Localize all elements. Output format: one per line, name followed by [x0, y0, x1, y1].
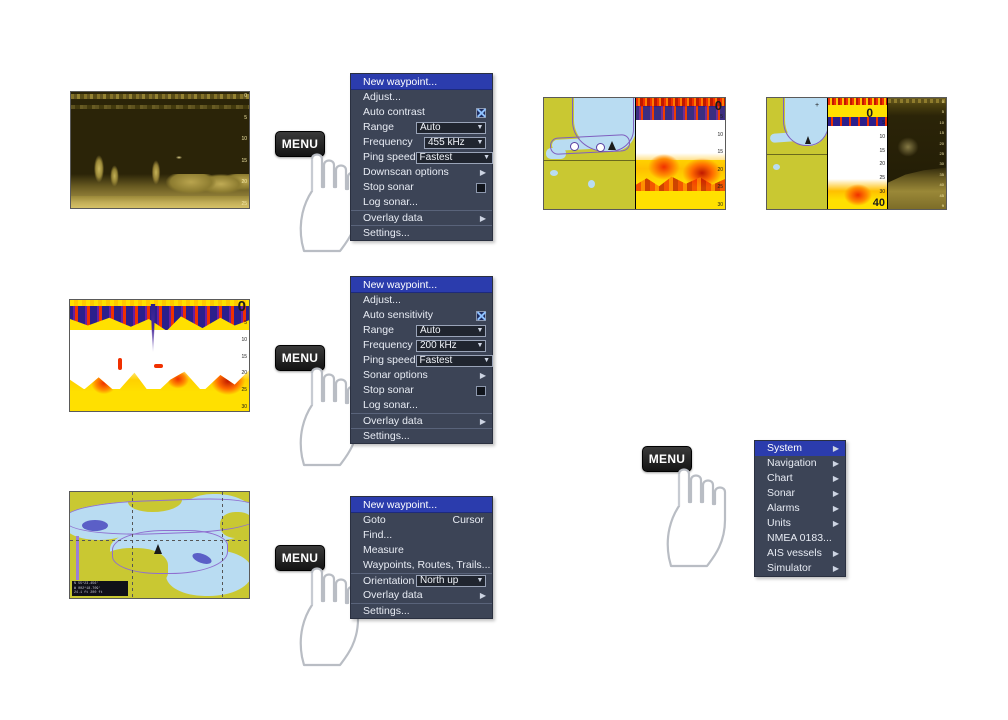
sonar-fish-target [154, 364, 163, 368]
chart-screen[interactable]: N 55*23.456' W 002*18.709' 24.1 ft 200 f… [69, 491, 250, 599]
menu-item-log-sonar[interactable]: Log sonar... [351, 398, 492, 413]
sonar-bottom-second-return [70, 397, 249, 411]
menu-item-label: Frequency [363, 135, 413, 150]
menu-item-label: Stop sonar [363, 383, 414, 398]
depth-tick: 20 [879, 161, 885, 167]
chevron-right-icon: ▶ [478, 368, 486, 383]
chevron-right-icon: ▶ [478, 414, 486, 429]
menu-item-label: Log sonar... [363, 195, 418, 210]
chart-vessel-icon [805, 136, 811, 144]
menu-item-orientation[interactable]: Orientation North up ▼ [351, 573, 492, 588]
chart-depth-contour-2 [550, 134, 631, 155]
depth-tick: 20 [241, 179, 247, 185]
menu-item-downscan-options[interactable]: Downscan options ▶ [351, 165, 492, 180]
downscan-vegetation-2 [108, 158, 121, 188]
menu-item-waypoints-routes-trails[interactable]: Waypoints, Routes, Trails... [351, 558, 492, 573]
menu-item-adjust[interactable]: Adjust... [351, 293, 492, 308]
depth-tick: 10 [940, 120, 944, 125]
downscan-menu[interactable]: New waypoint... Adjust... Auto contrast … [350, 73, 493, 241]
chevron-right-icon: ▶ [831, 516, 839, 531]
menu-item-measure[interactable]: Measure [351, 543, 492, 558]
menu-item-label: Waypoints, Routes, Trails... [363, 558, 490, 573]
chevron-right-icon: ▶ [831, 441, 839, 456]
frequency-dropdown[interactable]: 200 kHz ▼ [416, 340, 486, 352]
menu-item-label: Adjust... [363, 293, 401, 308]
checkbox-unchecked-icon[interactable] [476, 183, 486, 193]
depth-tick: 35 [940, 172, 944, 177]
menu-item-overlay-data[interactable]: Overlay data ▶ [351, 210, 492, 225]
depth-tick: 40 [940, 182, 944, 187]
split3-sonar-panel[interactable]: 0 40 5 10 15 20 25 30 [828, 98, 887, 209]
menu-item-label: Settings... [363, 226, 410, 241]
menu-item-label: Measure [363, 543, 404, 558]
settings-item-nmea-0183[interactable]: NMEA 0183... [755, 531, 845, 546]
menu-item-adjust[interactable]: Adjust... [351, 90, 492, 105]
sonar-depth-scale: 5 10 15 20 25 30 [710, 98, 724, 209]
menu-item-label: Downscan options [363, 165, 449, 180]
chart-coordinate-overlay: N 55*23.456' W 002*18.709' 24.1 ft 200 f… [72, 581, 128, 596]
depth-tick: 20 [940, 141, 944, 146]
ping-speed-dropdown-value: Fastest [420, 355, 482, 367]
depth-tick: 10 [241, 337, 247, 343]
menu-item-ping-speed[interactable]: Ping speed Fastest ▼ [351, 353, 492, 368]
chart-island [773, 164, 780, 170]
chevron-right-icon: ▶ [831, 561, 839, 576]
menu-item-frequency[interactable]: Frequency 455 kHz ▼ [351, 135, 492, 150]
menu-item-label: Navigation [767, 456, 817, 471]
chevron-right-icon: ▶ [478, 211, 486, 226]
menu-item-range[interactable]: Range Auto ▼ [351, 120, 492, 135]
menu-item-label: Settings... [363, 429, 410, 444]
chevron-right-icon: ▶ [831, 471, 839, 486]
menu-item-label: Ping speed [363, 150, 416, 165]
depth-tick: 0 [244, 93, 247, 99]
depth-tick: 30 [879, 189, 885, 195]
chart-vessel-icon [154, 544, 162, 554]
menu-item-label: Frequency [363, 338, 413, 353]
chart-sonar-downscan-split-screen[interactable]: + 0 40 5 10 15 20 25 30 0 5 10 15 20 25 … [766, 97, 947, 210]
menu-item-label: AIS vessels [767, 546, 822, 561]
checkbox-checked-icon[interactable] [476, 108, 486, 118]
chart-grid-line-vertical [222, 492, 223, 598]
range-dropdown-value: Auto [420, 325, 475, 337]
menu-item-settings[interactable]: Settings... [351, 428, 492, 443]
split3-chart-panel[interactable]: + [767, 98, 827, 209]
depth-tick: 20 [717, 167, 723, 173]
chart-depth-contour-basin [112, 530, 228, 574]
menu-item-label: Log sonar... [363, 398, 418, 413]
settings-item-chart[interactable]: Chart ▶ [755, 471, 845, 486]
depth-tick: 45 [940, 193, 944, 198]
downscan-thermocline-band [71, 105, 249, 109]
frequency-dropdown-value: 455 kHz [428, 137, 475, 149]
downscan-bait-cloud [894, 134, 922, 160]
orientation-dropdown-value: North up [420, 575, 475, 587]
menu-item-label: Chart [767, 471, 793, 486]
chevron-down-icon: ▼ [475, 340, 485, 352]
chart-buoy-icon [596, 143, 605, 152]
menu-item-auto-contrast[interactable]: Auto contrast [351, 105, 492, 120]
menu-title-new-waypoint[interactable]: New waypoint... [351, 497, 492, 513]
depth-tick: 10 [717, 132, 723, 138]
frequency-dropdown[interactable]: 455 kHz ▼ [424, 137, 486, 149]
menu-item-label: Find... [363, 528, 392, 543]
menu-item-settings[interactable]: Settings... [351, 225, 492, 240]
depth-tick: 10 [879, 134, 885, 140]
depth-tick: 30 [717, 202, 723, 208]
menu-item-ping-speed[interactable]: Ping speed Fastest ▼ [351, 150, 492, 165]
settings-item-units[interactable]: Units ▶ [755, 516, 845, 531]
frequency-dropdown-value: 200 kHz [420, 340, 475, 352]
depth-tick: 30 [241, 404, 247, 410]
menu-item-label: Stop sonar [363, 180, 414, 195]
depth-tick: 5 [882, 120, 885, 126]
menu-title-label: New waypoint... [363, 497, 437, 513]
downscan-surface-band [71, 94, 249, 99]
split-sonar-panel[interactable]: 0 5 10 15 20 25 30 [636, 98, 725, 209]
settings-item-navigation[interactable]: Navigation ▶ [755, 456, 845, 471]
depth-tick: 5 [244, 115, 247, 121]
menu-item-label: Goto [363, 513, 386, 528]
chart-island [550, 170, 558, 176]
chevron-right-icon: ▶ [478, 165, 486, 180]
settings-item-ais-vessels[interactable]: AIS vessels ▶ [755, 546, 845, 561]
chevron-right-icon: ▶ [831, 486, 839, 501]
menu-item-stop-sonar[interactable]: Stop sonar [351, 383, 492, 398]
depth-tick: 0 [942, 99, 944, 104]
chart-land-contour-line [767, 154, 827, 155]
downscan-bottom-edge [71, 196, 249, 208]
chart-grid-line-vertical [132, 492, 133, 598]
menu-item-sonar-options[interactable]: Sonar options ▶ [351, 368, 492, 383]
split3-downscan-panel[interactable]: 0 5 10 15 20 25 30 35 40 45 ft [888, 98, 946, 209]
depth-tick: 25 [717, 184, 723, 190]
chevron-right-icon: ▶ [831, 456, 839, 471]
depth-tick: 5 [244, 320, 247, 326]
downscan-depth-scale: 0 5 10 15 20 25 30 35 40 45 ft [931, 98, 945, 209]
chart-menu[interactable]: New waypoint... Goto Cursor Find... Meas… [350, 496, 493, 619]
sonar-fish-target [118, 358, 122, 370]
settings-item-simulator[interactable]: Simulator ▶ [755, 561, 845, 576]
menu-item-find[interactable]: Find... [351, 528, 492, 543]
downscan-depth-scale: 0 5 10 15 20 25 [234, 92, 248, 208]
traditional-sonar-screen[interactable]: 0 5 10 15 20 25 30 [69, 299, 250, 412]
menu-item-label: NMEA 0183... [767, 531, 832, 546]
split-chart-panel[interactable] [544, 98, 635, 209]
depth-tick: 20 [241, 370, 247, 376]
menu-item-label: Adjust... [363, 90, 401, 105]
chevron-down-icon: ▼ [482, 152, 492, 164]
chevron-right-icon: ▶ [831, 546, 839, 561]
menu-title-label: New waypoint... [363, 277, 437, 293]
chevron-down-icon: ▼ [475, 325, 485, 337]
menu-item-label: Simulator [767, 561, 811, 576]
settings-item-alarms[interactable]: Alarms ▶ [755, 501, 845, 516]
menu-item-label: Settings... [363, 604, 410, 619]
menu-item-frequency[interactable]: Frequency 200 kHz ▼ [351, 338, 492, 353]
depth-tick: 25 [241, 201, 247, 207]
depth-tick: 15 [717, 149, 723, 155]
chevron-down-icon: ▼ [475, 122, 485, 134]
menu-item-stop-sonar[interactable]: Stop sonar [351, 180, 492, 195]
menu-item-label: Range [363, 323, 394, 338]
chevron-down-icon: ▼ [475, 137, 485, 149]
downscan-fish-arch [175, 155, 183, 160]
menu-item-auto-sensitivity[interactable]: Auto sensitivity [351, 308, 492, 323]
menu-item-overlay-data[interactable]: Overlay data ▶ [351, 413, 492, 428]
menu-item-label: Orientation [363, 574, 414, 589]
range-dropdown[interactable]: Auto ▼ [416, 325, 486, 337]
depth-tick: 15 [241, 354, 247, 360]
chart-river-channel [76, 536, 79, 580]
sonar-depth-scale: 5 10 15 20 25 30 [872, 98, 886, 209]
depth-tick: 15 [241, 158, 247, 164]
downscan-vegetation-3 [149, 152, 163, 186]
checkbox-unchecked-icon[interactable] [476, 386, 486, 396]
menu-item-label: Overlay data [363, 211, 423, 226]
chart-land-contour-line [544, 160, 635, 161]
chevron-down-icon: ▼ [475, 575, 485, 587]
depth-tick: 25 [940, 151, 944, 156]
depth-tick: ft [942, 203, 944, 208]
chevron-down-icon: ▼ [482, 355, 492, 367]
chart-buoy-icon [570, 142, 579, 151]
chart-zoom-plus-icon: + [815, 102, 819, 109]
depth-tick: 25 [879, 175, 885, 181]
menu-item-label: Auto contrast [363, 105, 425, 120]
menu-title-label: New waypoint... [363, 74, 437, 90]
depth-tick: 10 [241, 136, 247, 142]
range-dropdown[interactable]: Auto ▼ [416, 122, 486, 134]
menu-item-overlay-data[interactable]: Overlay data ▶ [351, 588, 492, 603]
depth-tick: 25 [241, 387, 247, 393]
menu-item-label: Alarms [767, 501, 800, 516]
sonar-menu[interactable]: New waypoint... Adjust... Auto sensitivi… [350, 276, 493, 444]
menu-item-settings[interactable]: Settings... [351, 603, 492, 618]
orientation-dropdown[interactable]: North up ▼ [416, 575, 486, 587]
chart-deep-hole [82, 520, 108, 531]
depth-tick: 15 [879, 148, 885, 154]
menu-item-label: Units [767, 516, 791, 531]
hand-pointer-settings [655, 458, 735, 568]
menu-item-label: Overlay data [363, 414, 423, 429]
menu-item-label: Sonar options [363, 368, 428, 383]
chart-sonar-split-screen[interactable]: 0 5 10 15 20 25 30 [543, 97, 726, 210]
menu-item-label: Auto sensitivity [363, 308, 433, 323]
chevron-right-icon: ▶ [478, 588, 486, 603]
ping-speed-dropdown[interactable]: Fastest ▼ [416, 152, 493, 164]
menu-item-label: Ping speed [363, 353, 416, 368]
menu-item-log-sonar[interactable]: Log sonar... [351, 195, 492, 210]
menu-item-label: Range [363, 120, 394, 135]
settings-item-system[interactable]: System ▶ [755, 441, 845, 456]
chevron-right-icon: ▶ [831, 501, 839, 516]
depth-tick: 30 [940, 161, 944, 166]
downscan-sonar-screen[interactable]: 0 5 10 15 20 25 [70, 91, 250, 209]
ping-speed-dropdown[interactable]: Fastest ▼ [416, 355, 493, 367]
settings-menu[interactable]: System ▶ Navigation ▶ Chart ▶ Sonar ▶ Al… [754, 440, 846, 577]
depth-tick: 5 [942, 109, 944, 114]
ping-speed-dropdown-value: Fastest [420, 152, 482, 164]
settings-item-sonar[interactable]: Sonar ▶ [755, 486, 845, 501]
menu-title-new-waypoint[interactable]: New waypoint... [351, 74, 492, 90]
range-dropdown-value: Auto [420, 122, 475, 134]
depth-tick: 5 [720, 114, 723, 120]
chart-island [588, 180, 595, 188]
menu-title-new-waypoint[interactable]: New waypoint... [351, 277, 492, 293]
downscan-vegetation-1 [91, 146, 107, 184]
menu-item-goto[interactable]: Goto Cursor [351, 513, 492, 528]
menu-item-label: System [767, 441, 802, 456]
checkbox-checked-icon[interactable] [476, 311, 486, 321]
goto-target-value: Cursor [452, 513, 486, 528]
sonar-depth-scale: 5 10 15 20 25 30 [234, 300, 248, 411]
menu-item-label: Overlay data [363, 588, 423, 603]
menu-item-range[interactable]: Range Auto ▼ [351, 323, 492, 338]
menu-item-label: Sonar [767, 486, 795, 501]
depth-tick: 15 [940, 130, 944, 135]
chart-vessel-icon [608, 141, 616, 150]
sonar-thermocline [70, 306, 249, 332]
